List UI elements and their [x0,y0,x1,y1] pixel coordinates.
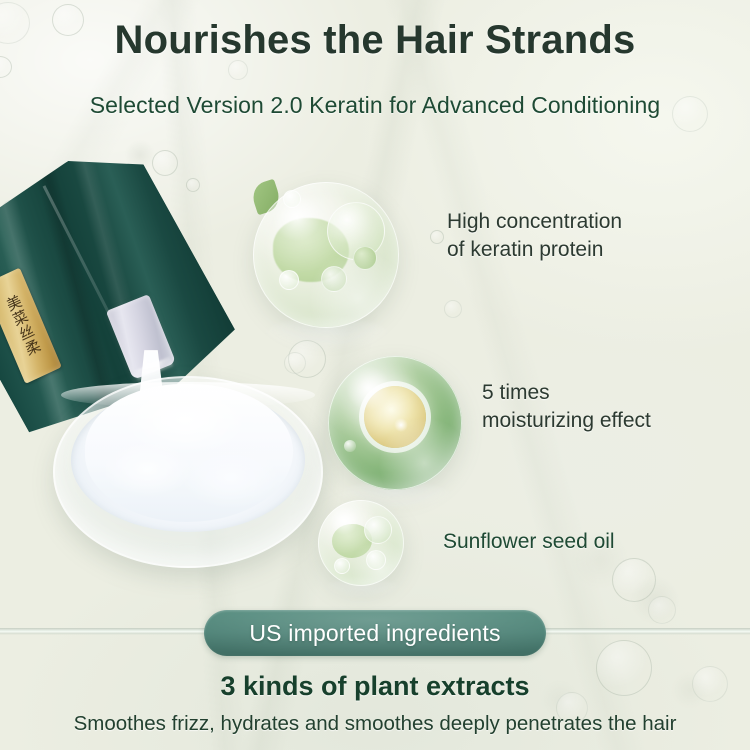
page-title: Nourishes the Hair Strands [0,18,750,63]
background-bubble-ring [430,230,444,244]
serum-bubble-large [253,182,399,328]
background-bubble-ring [152,150,178,176]
feature-label-high-keratin: High concentration of keratin protein [447,208,622,264]
bubble-inner-sphere [353,246,377,270]
serum-bubble-medium [328,356,462,490]
petri-dish [53,376,323,568]
feature-label-sunflower-oil: Sunflower seed oil [443,528,615,556]
bubble-inner-sphere [364,516,392,544]
bubble-inner-sphere [334,558,350,574]
background-bubble-ring [186,178,200,192]
bubble-inner-sphere [366,550,386,570]
footer-tagline: 3 kinds of plant extracts [0,671,750,702]
bubble-inner-sphere [279,270,299,290]
us-imported-ingredients-badge: US imported ingredients [204,610,546,656]
product-infographic: Nourishes the Hair Strands Selected Vers… [0,0,750,750]
background-bubble-ring [648,596,676,624]
background-bubble-ring [284,352,306,374]
bubble-inner-sphere [283,190,301,208]
bubble-inner-sphere [321,266,347,292]
serum-bubble-small [318,500,404,586]
cream-mass [85,384,293,522]
feature-label-moisturizing: 5 times moisturizing effect [482,379,651,435]
background-bubble-ring [444,300,462,318]
background-bubble-ring [612,558,656,602]
bubble-golden-core [364,386,426,448]
background-bubble-ring [228,60,248,80]
page-subtitle: Selected Version 2.0 Keratin for Advance… [0,92,750,119]
badge-label: US imported ingredients [249,620,500,647]
bubble-sparkle [394,418,408,432]
footer-subtagline: Smoothes frizz, hydrates and smoothes de… [0,712,750,736]
bubble-inner-sphere [344,440,356,452]
